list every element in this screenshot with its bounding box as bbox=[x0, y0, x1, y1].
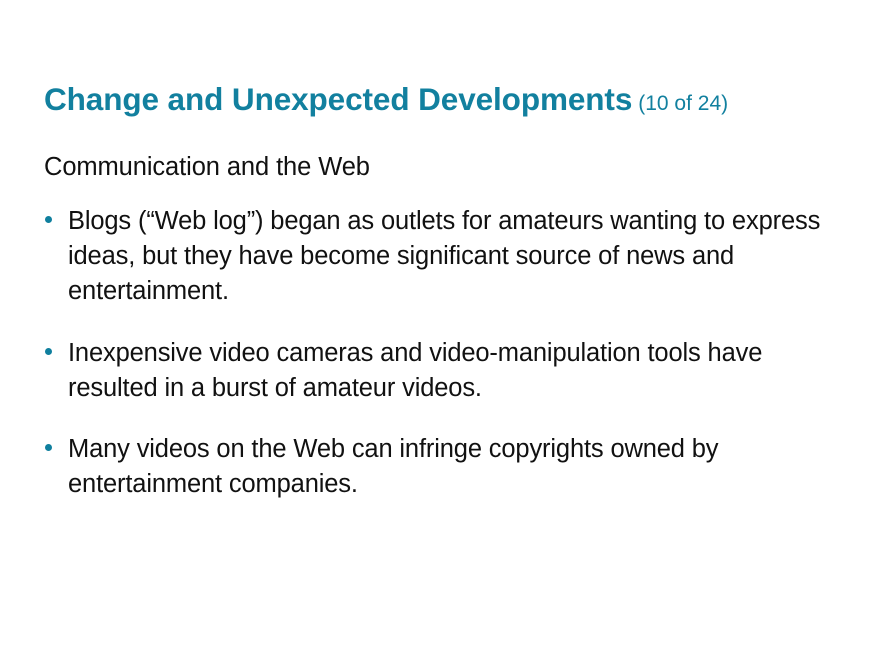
slide: Change and Unexpected Developments(10 of… bbox=[0, 0, 880, 660]
page-title: Change and Unexpected Developments(10 of… bbox=[44, 84, 850, 116]
bullet-dot-icon bbox=[45, 348, 52, 355]
list-item: Blogs (“Web log”) began as outlets for a… bbox=[44, 204, 844, 310]
list-item: Inexpensive video cameras and video-mani… bbox=[44, 336, 844, 406]
bullet-dot-icon bbox=[45, 216, 52, 223]
bullet-list: Blogs (“Web log”) began as outlets for a… bbox=[44, 204, 844, 502]
bullet-dot-icon bbox=[45, 444, 52, 451]
page-title-text: Change and Unexpected Developments bbox=[44, 81, 632, 117]
list-item-text: Inexpensive video cameras and video-mani… bbox=[68, 336, 844, 406]
list-item-text: Many videos on the Web can infringe copy… bbox=[68, 432, 844, 502]
slide-counter: (10 of 24) bbox=[638, 92, 728, 115]
list-item: Many videos on the Web can infringe copy… bbox=[44, 432, 844, 502]
list-item-text: Blogs (“Web log”) began as outlets for a… bbox=[68, 204, 844, 310]
section-subheading: Communication and the Web bbox=[44, 152, 844, 182]
slide-body: Communication and the Web Blogs (“Web lo… bbox=[44, 152, 844, 502]
